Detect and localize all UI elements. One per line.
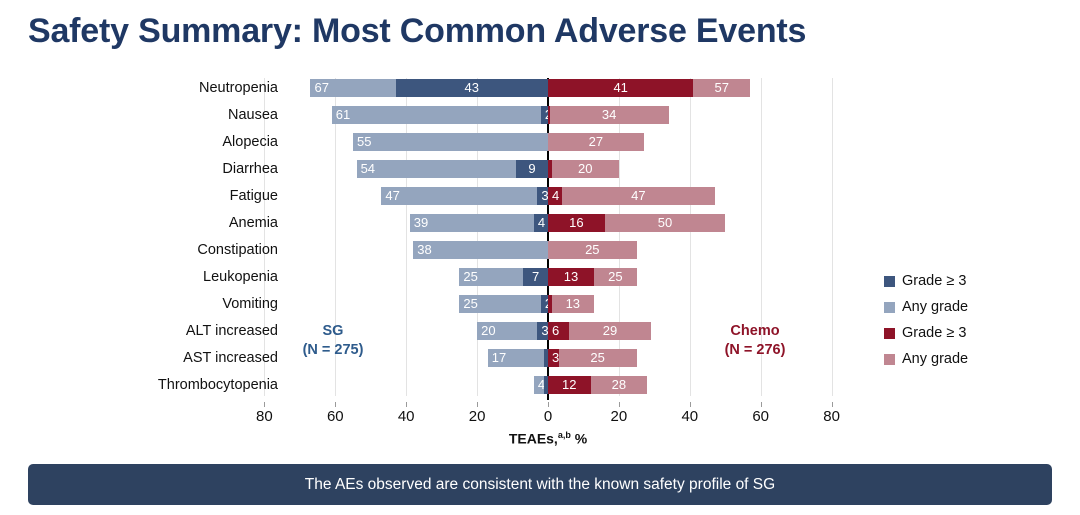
bar-sg-any-grade: 47: [381, 187, 537, 205]
bar-value-label: 20: [481, 322, 495, 340]
sg-group-n: (N = 275): [268, 341, 398, 360]
bar-chemo-any-grade: 34: [550, 106, 669, 124]
bar-value-label: 25: [590, 349, 604, 367]
category-label: Vomiting: [0, 295, 278, 313]
x-axis-title-base: TEAEs,: [509, 431, 558, 447]
bar-chemo-any-grade: 29: [569, 322, 651, 340]
bar-value-label: 20: [578, 160, 592, 178]
bar-value-label: 57: [714, 79, 728, 97]
bar-value-label: 50: [658, 214, 672, 232]
x-axis-tick: [548, 402, 549, 407]
chart-row: Fatigue473447: [0, 186, 1080, 213]
bar-chemo-any-grade: 27: [548, 133, 644, 151]
chart-row: Thrombocytopenia411228: [0, 375, 1080, 402]
x-axis-tick: [619, 402, 620, 407]
category-label: ALT increased: [0, 322, 278, 340]
x-axis-tick-label: 40: [660, 408, 720, 425]
bar-value-label: 61: [336, 106, 350, 124]
legend-item[interactable]: Grade ≥ 3: [884, 268, 1064, 294]
bar-value-label: 41: [613, 79, 627, 97]
legend-swatch-sg-grade3: [884, 276, 895, 287]
bar-chemo-grade3: 16: [548, 214, 605, 232]
category-label: Constipation: [0, 241, 278, 259]
legend-item[interactable]: Grade ≥ 3: [884, 320, 1064, 346]
chart-row: Alopecia5527: [0, 132, 1080, 159]
x-axis: TEAEs,a,b % 80604020020406080: [0, 402, 1080, 448]
sg-group-annotation: SG (N = 275): [268, 322, 398, 360]
legend-label: Any grade: [902, 299, 968, 315]
bar-value-label: 34: [602, 106, 616, 124]
bar-sg-grade3: 43: [396, 79, 548, 97]
chart-row: Diarrhea549120: [0, 159, 1080, 186]
x-axis-tick-label: 80: [234, 408, 294, 425]
bar-sg-grade3: 2: [541, 295, 548, 313]
bar-value-label: 7: [532, 268, 539, 286]
bar-value-label: 13: [564, 268, 578, 286]
bar-value-label: 13: [566, 295, 580, 313]
bar-chemo-any-grade: 25: [548, 241, 637, 259]
chart-row: Neutropenia67434157: [0, 78, 1080, 105]
bar-value-label: 47: [631, 187, 645, 205]
footer-banner: The AEs observed are consistent with the…: [28, 464, 1052, 505]
bar-chemo-grade3: 4: [548, 187, 562, 205]
bar-chemo-grade3: 12: [548, 376, 591, 394]
bar-value-label: 25: [585, 241, 599, 259]
bar-sg-grade3: 4: [534, 214, 548, 232]
legend-label: Grade ≥ 3: [902, 273, 966, 289]
bar-value-label: 43: [465, 79, 479, 97]
chart-row: Nausea612< 134: [0, 105, 1080, 132]
legend-item[interactable]: Any grade: [884, 294, 1064, 320]
adverse-events-diverging-bar-chart: Neutropenia67434157Nausea612< 134Alopeci…: [0, 72, 1080, 432]
x-axis-tick-label: 20: [589, 408, 649, 425]
category-label: Anemia: [0, 214, 278, 232]
bar-sg-grade3: 3: [537, 187, 548, 205]
x-axis-tick: [335, 402, 336, 407]
legend-swatch-chemo-grade3: [884, 328, 895, 339]
bar-value-label: 55: [357, 133, 371, 151]
bar-sg-any-grade: 20: [477, 322, 537, 340]
chemo-group-annotation: Chemo (N = 276): [690, 322, 820, 360]
bar-chemo-grade3: 41: [548, 79, 693, 97]
legend-swatch-chemo-any: [884, 354, 895, 365]
chemo-group-name: Chemo: [690, 322, 820, 341]
bar-value-label: 25: [463, 268, 477, 286]
bar-chemo-any-grade: 25: [559, 349, 637, 367]
bar-value-label: 39: [414, 214, 428, 232]
bar-sg-any-grade: 4: [534, 376, 545, 394]
bar-value-label: 27: [589, 133, 603, 151]
bar-value-label: 25: [608, 268, 622, 286]
x-axis-title-superscript: a,b: [558, 430, 571, 440]
bar-sg-any-grade: 39: [410, 214, 534, 232]
category-label: Thrombocytopenia: [0, 376, 278, 394]
x-axis-tick: [690, 402, 691, 407]
x-axis-tick-label: 60: [731, 408, 791, 425]
bar-chemo-any-grade: 25: [594, 268, 637, 286]
legend-label: Any grade: [902, 351, 968, 367]
bar-chemo-any-grade: 28: [591, 376, 648, 394]
bar-value-label: 17: [492, 349, 506, 367]
x-axis-tick-label: 40: [376, 408, 436, 425]
category-label: AST increased: [0, 349, 278, 367]
chart-row: Anemia3941650: [0, 213, 1080, 240]
sg-group-name: SG: [268, 322, 398, 341]
category-label: Nausea: [0, 106, 278, 124]
bar-sg-any-grade: 54: [357, 160, 517, 178]
page-title: Safety Summary: Most Common Adverse Even…: [28, 12, 1028, 51]
legend-swatch-sg-any: [884, 302, 895, 313]
bar-value-label: 4: [538, 214, 545, 232]
legend-item[interactable]: Any grade: [884, 346, 1064, 372]
bar-value-label: 38: [417, 241, 431, 259]
x-axis-tick: [832, 402, 833, 407]
bar-value-label: 25: [463, 295, 477, 313]
bar-chemo-any-grade: 57: [693, 79, 750, 97]
category-label: Diarrhea: [0, 160, 278, 178]
bar-sg-any-grade: 55: [353, 133, 548, 151]
chemo-group-n: (N = 276): [690, 341, 820, 360]
chart-row: Constipation3825: [0, 240, 1080, 267]
bar-value-label: 47: [385, 187, 399, 205]
bar-sg-any-grade: 67: [310, 79, 395, 97]
x-axis-tick-label: 80: [802, 408, 862, 425]
bar-sg-grade3: 9: [516, 160, 548, 178]
x-axis-title: TEAEs,a,b %: [509, 430, 587, 447]
bar-sg-any-grade: 25: [459, 295, 541, 313]
x-axis-tick-label: 60: [305, 408, 365, 425]
bar-chemo-grade3: 3: [548, 349, 559, 367]
bar-chemo-any-grade: 20: [552, 160, 619, 178]
bar-chemo-any-grade: 13: [552, 295, 595, 313]
bar-chemo-grade3: 6: [548, 322, 569, 340]
legend-label: Grade ≥ 3: [902, 325, 966, 341]
x-axis-tick-label: 0: [518, 408, 578, 425]
bar-sg-any-grade: 25: [459, 268, 523, 286]
x-axis-tick: [477, 402, 478, 407]
bar-chemo-any-grade: 47: [562, 187, 714, 205]
category-label: Fatigue: [0, 187, 278, 205]
bar-chemo-grade3: 13: [548, 268, 594, 286]
footer-text: The AEs observed are consistent with the…: [305, 476, 775, 494]
bar-value-label: 6: [552, 322, 559, 340]
x-axis-tick: [406, 402, 407, 407]
category-label: Leukopenia: [0, 268, 278, 286]
bar-sg-any-grade: 61: [332, 106, 541, 124]
bar-value-label: 4: [552, 187, 559, 205]
bar-sg-grade3: 3: [537, 322, 548, 340]
x-axis-tick: [761, 402, 762, 407]
bar-value-label: 54: [361, 160, 375, 178]
x-axis-tick-label: 20: [447, 408, 507, 425]
bar-chemo-any-grade: 50: [605, 214, 726, 232]
bar-sg-any-grade: 38: [413, 241, 548, 259]
category-label: Neutropenia: [0, 79, 278, 97]
bar-value-label: 12: [562, 376, 576, 394]
x-axis-tick: [264, 402, 265, 407]
chart-legend: Grade ≥ 3Any gradeGrade ≥ 3Any grade: [884, 268, 1064, 372]
bar-value-label: 29: [603, 322, 617, 340]
bar-sg-grade3: 7: [523, 268, 548, 286]
x-axis-title-unit: %: [571, 431, 587, 447]
bar-value-label: 16: [569, 214, 583, 232]
bar-value-label: 9: [528, 160, 535, 178]
bar-value-label: 28: [612, 376, 626, 394]
bar-sg-any-grade: 17: [488, 349, 545, 367]
category-label: Alopecia: [0, 133, 278, 151]
bar-sg-grade3: 2: [541, 106, 548, 124]
bar-value-label: 67: [314, 79, 328, 97]
